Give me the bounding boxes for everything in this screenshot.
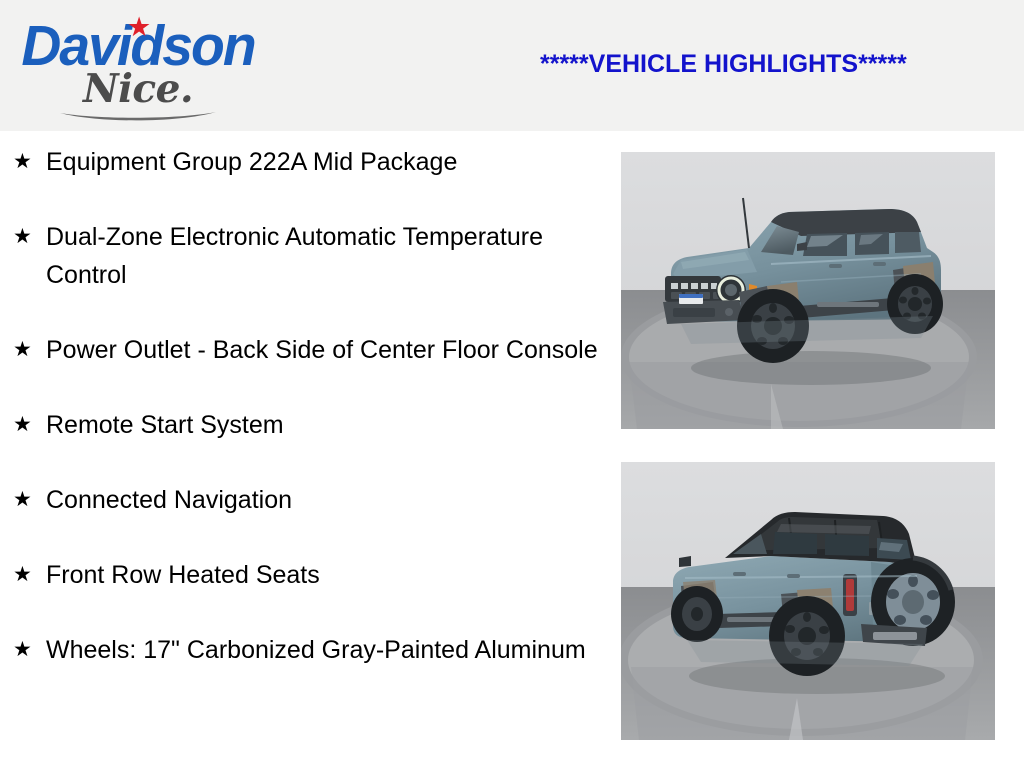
list-item-label: Dual-Zone Electronic Automatic Temperatu… [46,218,600,294]
list-item: ★ Power Outlet - Back Side of Center Flo… [0,331,600,369]
page-title: *****VEHICLE HIGHLIGHTS***** [540,49,1000,79]
list-item-label: Remote Start System [46,406,600,444]
list-item: ★ Equipment Group 222A Mid Package [0,143,600,181]
logo-secondary-text: Nice. [14,70,262,109]
vehicle-photo-rear-quarter[interactable] [621,462,995,740]
list-item: ★ Dual-Zone Electronic Automatic Tempera… [0,218,600,294]
logo-star-icon: ★ [127,14,151,41]
list-item: ★ Remote Start System [0,406,600,444]
star-bullet-icon: ★ [13,331,32,369]
list-item-label: Equipment Group 222A Mid Package [46,143,600,181]
list-item: ★ Wheels: 17" Carbonized Gray-Painted Al… [0,631,600,669]
list-item-label: Connected Navigation [46,481,600,519]
star-bullet-icon: ★ [13,406,32,444]
logo-swoosh-underline [58,110,218,123]
list-item-label: Wheels: 17" Carbonized Gray-Painted Alum… [46,631,600,669]
page-header: Davidson ★ Nice. *****VEHICLE HIGHLIGHTS… [0,0,1024,131]
vehicle-photo-front-quarter[interactable] [621,152,995,429]
star-bullet-icon: ★ [13,143,32,181]
list-item-label: Front Row Heated Seats [46,556,600,594]
vehicle-highlights-list: ★ Equipment Group 222A Mid Package ★ Dua… [0,143,600,669]
dealer-logo[interactable]: Davidson ★ Nice. [14,6,262,124]
list-item: ★ Connected Navigation [0,481,600,519]
list-item-label: Power Outlet - Back Side of Center Floor… [46,331,600,369]
star-bullet-icon: ★ [13,481,32,519]
star-bullet-icon: ★ [13,218,32,256]
star-bullet-icon: ★ [13,556,32,594]
star-bullet-icon: ★ [13,631,32,669]
list-item: ★ Front Row Heated Seats [0,556,600,594]
